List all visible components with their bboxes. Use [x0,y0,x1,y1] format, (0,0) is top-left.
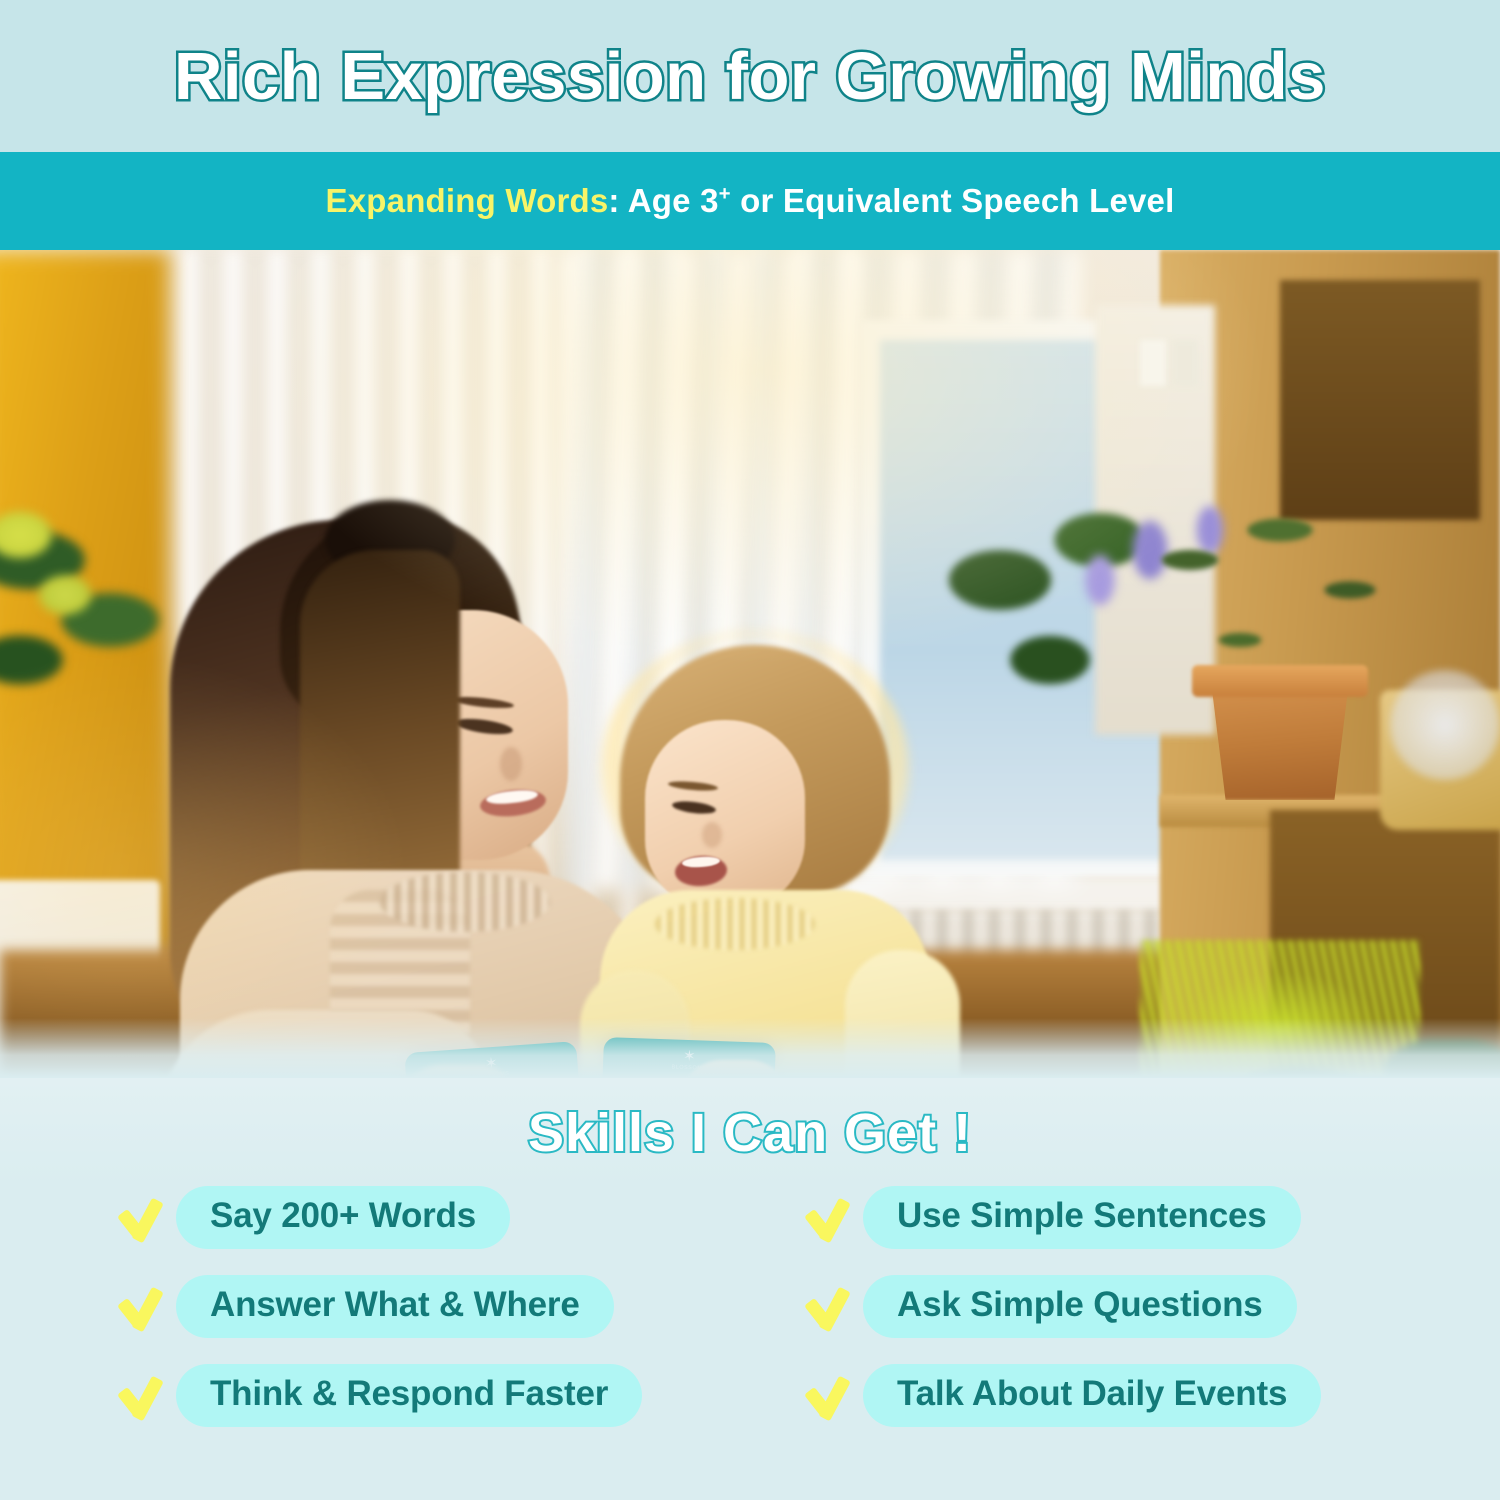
child-sweater-collar [655,898,815,950]
skill-label: Ask Simple Questions [863,1275,1297,1338]
skill-label: Talk About Daily Events [863,1364,1321,1427]
terracotta-pot-rim [1192,665,1368,697]
child-face [645,720,805,910]
subtitle-rest-after: or Equivalent Speech Level [731,182,1175,219]
header-band: Rich Expression for Growing Minds [0,0,1500,152]
page-title: Rich Expression for Growing Minds [174,38,1326,115]
subtitle-rest-before: : Age 3 [608,182,718,219]
subtitle-band: Expanding Words: Age 3+ or Equivalent Sp… [0,152,1500,250]
child-nose [702,822,722,848]
check-icon [118,1376,158,1416]
subtitle-superscript: + [719,182,731,205]
subtitle-highlight: Expanding Words [326,182,609,219]
hero-photo: ✶ BLOSSOMS eth Stage 1 | Vision Chat | T… [0,250,1500,1078]
skill-label: Think & Respond Faster [176,1364,642,1427]
skills-section: Skills I Can Get ! Say 200+ Words Use Si… [0,1078,1500,1500]
mother-sweater-collar [380,872,550,932]
check-icon [805,1198,845,1238]
skill-label: Answer What & Where [176,1275,614,1338]
mother-nose [500,747,522,781]
shelf-jar-two [1172,340,1198,386]
skill-item-think-and-respond-faster: Think & Respond Faster [118,1364,767,1427]
check-icon [805,1376,845,1416]
subtitle-text: Expanding Words: Age 3+ or Equivalent Sp… [326,182,1175,220]
skill-label: Use Simple Sentences [863,1186,1301,1249]
skills-grid: Say 200+ Words Use Simple Sentences Answ… [0,1186,1500,1427]
check-icon [805,1287,845,1327]
skill-item-ask-simple-questions: Ask Simple Questions [767,1275,1416,1338]
skills-title: Skills I Can Get ! [0,1102,1500,1164]
check-icon [118,1287,158,1327]
skill-item-say-200-words: Say 200+ Words [118,1186,767,1249]
skill-item-answer-what-and-where: Answer What & Where [118,1275,767,1338]
skill-item-use-simple-sentences: Use Simple Sentences [767,1186,1416,1249]
check-icon [118,1198,158,1238]
child-right-arm [845,950,960,1078]
skill-item-talk-about-daily-events: Talk About Daily Events [767,1364,1416,1427]
star-burst-icon: ✶ [669,1048,709,1064]
skill-label: Say 200+ Words [176,1186,510,1249]
left-plant-highlight [0,485,110,635]
shelf-jar-one [1140,340,1166,386]
dark-foreground-leaves [1180,1040,1500,1078]
shelf-compartment-top [1280,280,1480,520]
